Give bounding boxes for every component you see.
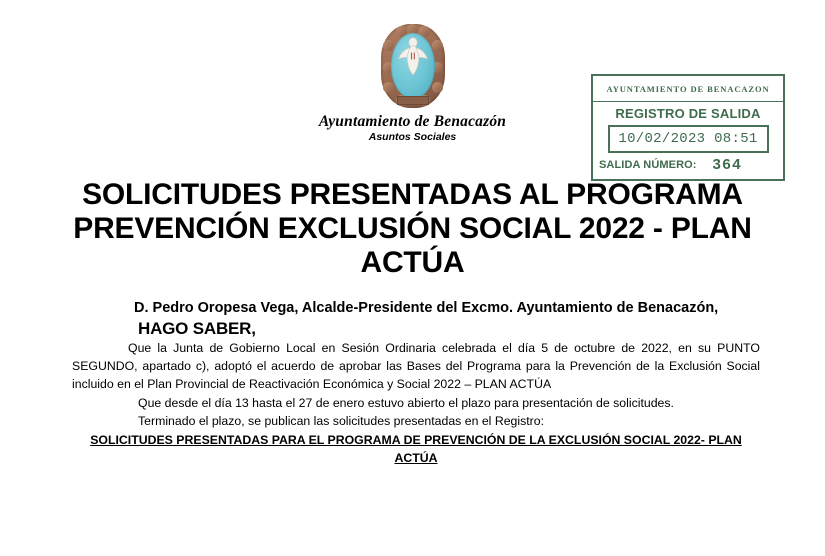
stamp-exit-number-label: SALIDA NÚMERO: [599,159,697,171]
document-body: D. Pedro Oropesa Vega, Alcalde-President… [72,298,760,468]
dove-icon [397,35,429,82]
stamp-type-label: REGISTRO DE SALIDA [593,102,783,124]
declaration-heading: HAGO SABER, [72,319,760,339]
stamp-municipality-header: AYUNTAMIENTO DE BENACAZON [593,76,783,102]
stamp-datetime: 10/02/2023 08:51 [608,125,769,153]
mayor-intro-paragraph: D. Pedro Oropesa Vega, Alcalde-President… [72,298,760,319]
stamp-exit-number-row: SALIDA NÚMERO: 364 [593,156,783,173]
document-page: Ayuntamiento de Benacazón Asuntos Social… [0,0,825,556]
page-title: SOLICITUDES PRESENTADAS AL PROGRAMA PREV… [55,178,770,280]
registro-de-salida-stamp: AYUNTAMIENTO DE BENACAZON REGISTRO DE SA… [591,74,785,181]
body-paragraph-3: Terminado el plazo, se publican las soli… [72,412,760,430]
stamp-exit-number-value: 364 [713,156,743,173]
section-heading: SOLICITUDES PRESENTADAS PARA EL PROGRAMA… [72,431,760,468]
section-heading-text: SOLICITUDES PRESENTADAS PARA EL PROGRAMA… [90,433,742,465]
body-paragraph-1: Que la Junta de Gobierno Local en Sesión… [72,339,760,394]
coat-of-arms-icon [379,22,447,110]
body-paragraph-2: Que desde el día 13 hasta el 27 de enero… [72,394,760,412]
